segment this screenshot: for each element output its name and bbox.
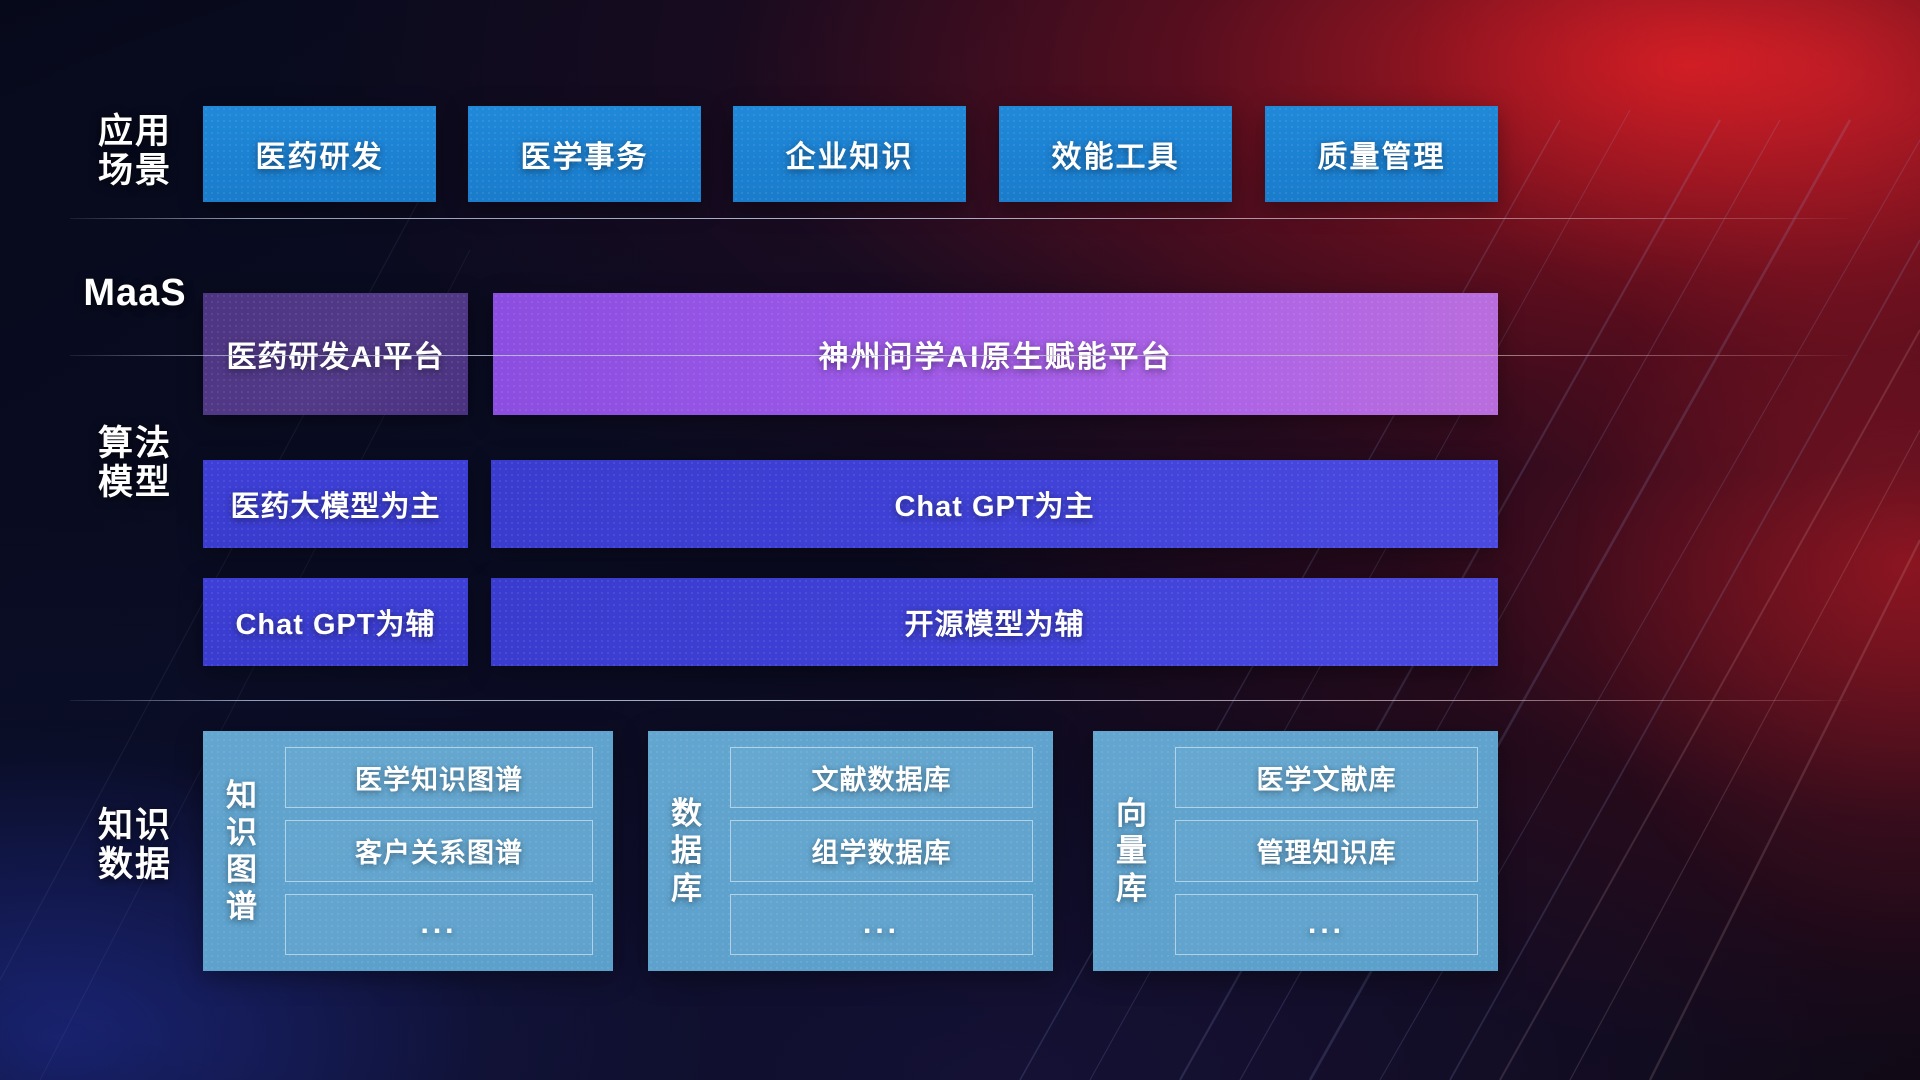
row-label-knowledge-data: 知识 数据: [70, 806, 200, 884]
algorithm-card-row1-left[interactable]: Chat GPT为辅: [203, 578, 468, 666]
app-scenario-card-3[interactable]: 效能工具: [999, 106, 1232, 202]
maas-platform-label: 神州问学AI原生赋能平台: [819, 332, 1173, 376]
knowledge-item-label: 组学数据库: [812, 831, 952, 870]
knowledge-item[interactable]: 客户关系图谱: [285, 820, 593, 881]
algorithm-label: Chat GPT为主: [894, 483, 1094, 525]
app-scenario-label: 效能工具: [1052, 132, 1180, 176]
knowledge-item-more[interactable]: ...: [285, 894, 593, 955]
title-char: 数: [671, 795, 703, 832]
knowledge-item-label: ...: [1308, 907, 1345, 941]
knowledge-card-knowledge-graph[interactable]: 知 识 图 谱 医学知识图谱 客户关系图谱 ...: [203, 731, 613, 971]
row-label-line: 场景: [70, 151, 200, 190]
maas-platform-label: 医药研发AI平台: [227, 332, 445, 376]
knowledge-item-label: 管理知识库: [1257, 831, 1397, 870]
row-label-maas: MaaS: [70, 272, 200, 315]
divider-after-algorithm-models: [70, 700, 1848, 701]
maas-platform-card-left[interactable]: 医药研发AI平台: [203, 293, 468, 415]
knowledge-item-more[interactable]: ...: [1175, 894, 1478, 955]
knowledge-card-vector-store[interactable]: 向 量 库 医学文献库 管理知识库 ...: [1093, 731, 1498, 971]
row-label-line: 应用: [70, 112, 200, 151]
algorithm-label: Chat GPT为辅: [235, 601, 435, 643]
algorithm-card-row0-right[interactable]: Chat GPT为主: [491, 460, 1498, 548]
divider-after-maas: [70, 355, 1848, 356]
app-scenario-label: 医学事务: [521, 132, 649, 176]
knowledge-card-title: 向 量 库: [1093, 731, 1171, 971]
row-label-algorithm-models: 算法 模型: [70, 424, 200, 502]
algorithm-label: 医药大模型为主: [230, 483, 440, 525]
title-char: 量: [1116, 832, 1148, 869]
knowledge-item-label: 医学知识图谱: [355, 758, 523, 797]
knowledge-item[interactable]: 医学知识图谱: [285, 747, 593, 808]
knowledge-item-label: 医学文献库: [1257, 758, 1397, 797]
knowledge-card-item-list: 医学文献库 管理知识库 ...: [1171, 731, 1498, 971]
title-char: 库: [1116, 870, 1148, 907]
title-char: 知: [226, 777, 258, 814]
maas-platform-card-right[interactable]: 神州问学AI原生赋能平台: [493, 293, 1498, 415]
title-char: 图: [226, 851, 258, 888]
row-label-line: 数据: [70, 845, 200, 884]
title-char: 库: [671, 870, 703, 907]
row-label-application-scenarios: 应用 场景: [70, 112, 200, 190]
title-char: 识: [226, 814, 258, 851]
knowledge-card-title: 知 识 图 谱: [203, 731, 281, 971]
app-scenario-label: 企业知识: [786, 132, 914, 176]
architecture-diagram: 应用 场景 医药研发 医学事务 企业知识 效能工具 质量管理 MaaS 医药研发…: [0, 0, 1920, 1080]
algorithm-card-row0-left[interactable]: 医药大模型为主: [203, 460, 468, 548]
app-scenario-card-1[interactable]: 医学事务: [468, 106, 701, 202]
app-scenario-card-2[interactable]: 企业知识: [733, 106, 966, 202]
row-label-line: 算法: [70, 424, 200, 463]
knowledge-item-label: ...: [420, 907, 457, 941]
title-char: 谱: [226, 888, 258, 925]
knowledge-item[interactable]: 管理知识库: [1175, 820, 1478, 881]
row-label-line: 知识: [70, 806, 200, 845]
app-scenario-card-4[interactable]: 质量管理: [1265, 106, 1498, 202]
knowledge-card-title: 数 据 库: [648, 731, 726, 971]
knowledge-item[interactable]: 文献数据库: [730, 747, 1033, 808]
knowledge-card-database[interactable]: 数 据 库 文献数据库 组学数据库 ...: [648, 731, 1053, 971]
app-scenario-card-0[interactable]: 医药研发: [203, 106, 436, 202]
row-label-line: 模型: [70, 463, 200, 502]
knowledge-item-label: ...: [863, 907, 900, 941]
knowledge-item-more[interactable]: ...: [730, 894, 1033, 955]
title-char: 据: [671, 832, 703, 869]
divider-after-application-scenarios: [70, 218, 1848, 219]
app-scenario-label: 医药研发: [256, 132, 384, 176]
knowledge-item-label: 文献数据库: [812, 758, 952, 797]
app-scenario-label: 质量管理: [1318, 132, 1446, 176]
algorithm-label: 开源模型为辅: [904, 601, 1084, 643]
knowledge-item[interactable]: 组学数据库: [730, 820, 1033, 881]
knowledge-item[interactable]: 医学文献库: [1175, 747, 1478, 808]
knowledge-item-label: 客户关系图谱: [355, 831, 523, 870]
knowledge-card-item-list: 文献数据库 组学数据库 ...: [726, 731, 1053, 971]
knowledge-card-item-list: 医学知识图谱 客户关系图谱 ...: [281, 731, 613, 971]
algorithm-card-row1-right[interactable]: 开源模型为辅: [491, 578, 1498, 666]
title-char: 向: [1116, 795, 1148, 832]
row-label-line: MaaS: [70, 272, 200, 315]
